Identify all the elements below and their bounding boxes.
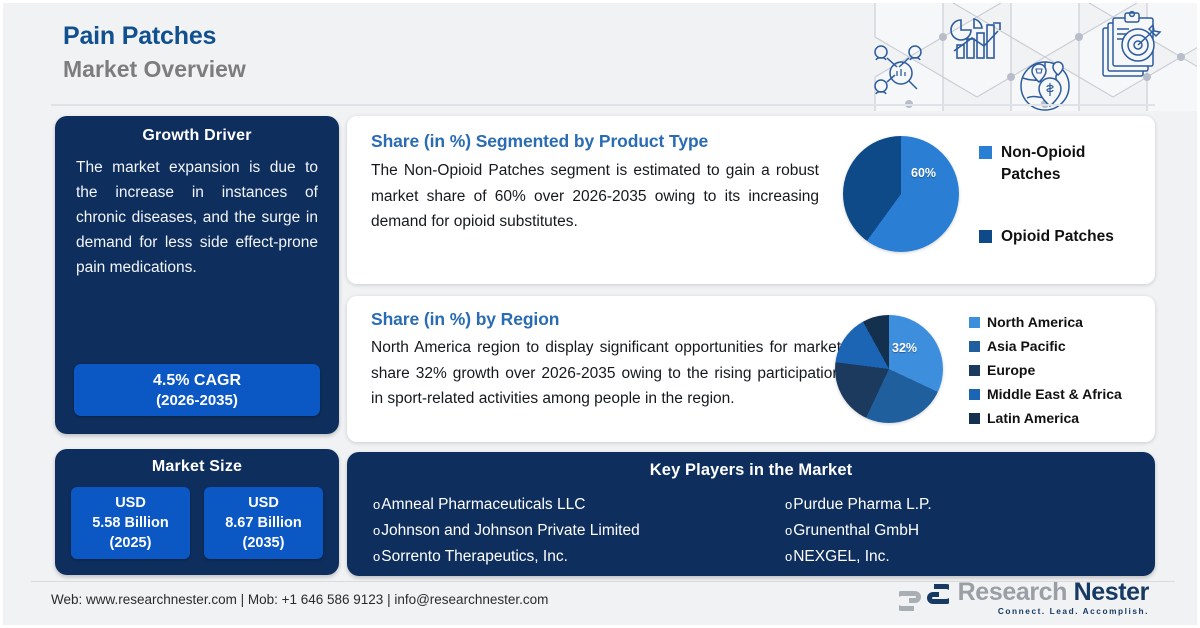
legend-swatch-icon <box>979 146 992 159</box>
year-label: (2035) <box>243 533 285 553</box>
logo-word-research: Research <box>958 578 1067 606</box>
product-type-pie-label: 60% <box>911 166 936 180</box>
market-size-box-base-year: USD 5.58 Billion (2025) <box>71 487 190 559</box>
page-subtitle: Market Overview <box>63 54 246 84</box>
legend-label: Europe <box>987 361 1035 380</box>
legend-label: Latin America <box>987 409 1079 428</box>
key-players-title: Key Players in the Market <box>347 461 1155 480</box>
bullet-icon: o <box>785 497 792 512</box>
region-pie-chart <box>835 315 943 423</box>
market-size-card: Market Size USD 5.58 Billion (2025) USD … <box>55 449 339 575</box>
cagr-value: 4.5% CAGR <box>153 371 241 391</box>
legend-item: Latin America <box>969 409 1122 428</box>
infographic-page: Pain Patches Market Overview Growth Driv… <box>0 0 1200 628</box>
logo-tagline: Connect. Lead. Accomplish. <box>958 607 1149 615</box>
header-divider <box>51 104 1155 106</box>
list-item: oGrunenthal GmbH <box>785 518 1135 544</box>
legend-label: North America <box>987 313 1083 332</box>
player-name: Amneal Pharmaceuticals LLC <box>381 496 585 513</box>
legend-item: Europe <box>969 361 1122 380</box>
legend-swatch-icon <box>969 365 980 376</box>
region-title: Share (in %) by Region <box>371 309 841 330</box>
region-pie-label: 32% <box>892 341 917 355</box>
bullet-icon: o <box>785 549 792 564</box>
legend-swatch-icon <box>969 413 980 424</box>
currency-label: USD <box>115 493 146 513</box>
legend-item: Opioid Patches <box>979 226 1129 248</box>
list-item: oSorrento Therapeutics, Inc. <box>373 544 751 570</box>
page-title: Pain Patches <box>63 21 246 51</box>
chart-growth-icon <box>951 19 1000 58</box>
product-type-text: Share (in %) Segmented by Product Type T… <box>371 131 819 235</box>
logo-wordmark: Research Nester Connect. Lead. Accomplis… <box>958 580 1149 615</box>
list-item: oJohnson and Johnson Private Limited <box>373 518 751 544</box>
product-type-title: Share (in %) Segmented by Product Type <box>371 131 819 152</box>
legend-label: Opioid Patches <box>1001 226 1114 248</box>
research-nester-logo: Research Nester Connect. Lead. Accomplis… <box>899 580 1149 615</box>
amount-label: 8.67 Billion <box>225 513 302 533</box>
player-name: NEXGEL, Inc. <box>793 548 889 565</box>
product-type-legend: Non-Opioid Patches Opioid Patches <box>979 142 1129 248</box>
globe-money-icon <box>1021 62 1069 110</box>
player-name: Johnson and Johnson Private Limited <box>381 522 640 539</box>
market-size-values: USD 5.58 Billion (2025) USD 8.67 Billion… <box>71 487 323 559</box>
region-legend: North America Asia Pacific Europe Middle… <box>969 313 1122 433</box>
growth-driver-body: The market expansion is due to the incre… <box>76 155 318 280</box>
year-label: (2025) <box>110 533 152 553</box>
product-type-body: The Non-Opioid Patches segment is estima… <box>371 158 819 235</box>
legend-label: Middle East & Africa <box>987 385 1122 404</box>
people-network-icon <box>875 46 921 94</box>
key-players-column-left: oAmneal Pharmaceuticals LLC oJohnson and… <box>367 492 751 570</box>
currency-label: USD <box>248 493 279 513</box>
list-item: oPurdue Pharma L.P. <box>785 492 1135 518</box>
clipboard-target-icon <box>1103 12 1160 76</box>
region-card: Share (in %) by Region North America reg… <box>347 296 1155 442</box>
key-players-column-right: oPurdue Pharma L.P. oGrunenthal GmbH oNE… <box>751 492 1135 570</box>
player-name: Purdue Pharma L.P. <box>793 496 931 513</box>
cagr-badge: 4.5% CAGR (2026-2035) <box>74 364 320 416</box>
list-item: oAmneal Pharmaceuticals LLC <box>373 492 751 518</box>
logo-word-nester: Nester <box>1074 578 1149 606</box>
bullet-icon: o <box>785 523 792 538</box>
hexagon-decoration <box>857 3 1197 111</box>
list-item: oNEXGEL, Inc. <box>785 544 1135 570</box>
logo-mark-icon <box>899 582 949 613</box>
page-header: Pain Patches Market Overview <box>63 21 246 84</box>
growth-driver-card: Growth Driver The market expansion is du… <box>55 116 339 434</box>
key-players-columns: oAmneal Pharmaceuticals LLC oJohnson and… <box>367 492 1135 570</box>
bullet-icon: o <box>373 497 380 512</box>
market-size-box-forecast-year: USD 8.67 Billion (2035) <box>204 487 323 559</box>
bullet-icon: o <box>373 523 380 538</box>
legend-swatch-icon <box>969 341 980 352</box>
growth-driver-title: Growth Driver <box>55 127 339 145</box>
legend-item: North America <box>969 313 1122 332</box>
legend-item: Middle East & Africa <box>969 385 1122 404</box>
region-text: Share (in %) by Region North America reg… <box>371 309 841 412</box>
legend-swatch-icon <box>969 389 980 400</box>
legend-label: Asia Pacific <box>987 337 1066 356</box>
legend-swatch-icon <box>969 317 980 328</box>
legend-swatch-icon <box>979 230 992 243</box>
market-size-title: Market Size <box>55 458 339 476</box>
amount-label: 5.58 Billion <box>92 513 169 533</box>
key-players-card: Key Players in the Market oAmneal Pharma… <box>347 452 1155 576</box>
player-name: Grunenthal GmbH <box>793 522 919 539</box>
player-name: Sorrento Therapeutics, Inc. <box>381 548 568 565</box>
footer-contact: Web: www.researchnester.com | Mob: +1 64… <box>51 592 548 607</box>
legend-label: Non-Opioid Patches <box>1001 142 1129 186</box>
product-type-pie-chart <box>843 136 959 252</box>
region-body: North America region to display signific… <box>371 335 841 412</box>
bullet-icon: o <box>373 549 380 564</box>
cagr-period: (2026-2035) <box>156 391 238 410</box>
legend-item: Non-Opioid Patches <box>979 142 1129 186</box>
legend-item: Asia Pacific <box>969 337 1122 356</box>
product-type-card: Share (in %) Segmented by Product Type T… <box>347 116 1155 284</box>
